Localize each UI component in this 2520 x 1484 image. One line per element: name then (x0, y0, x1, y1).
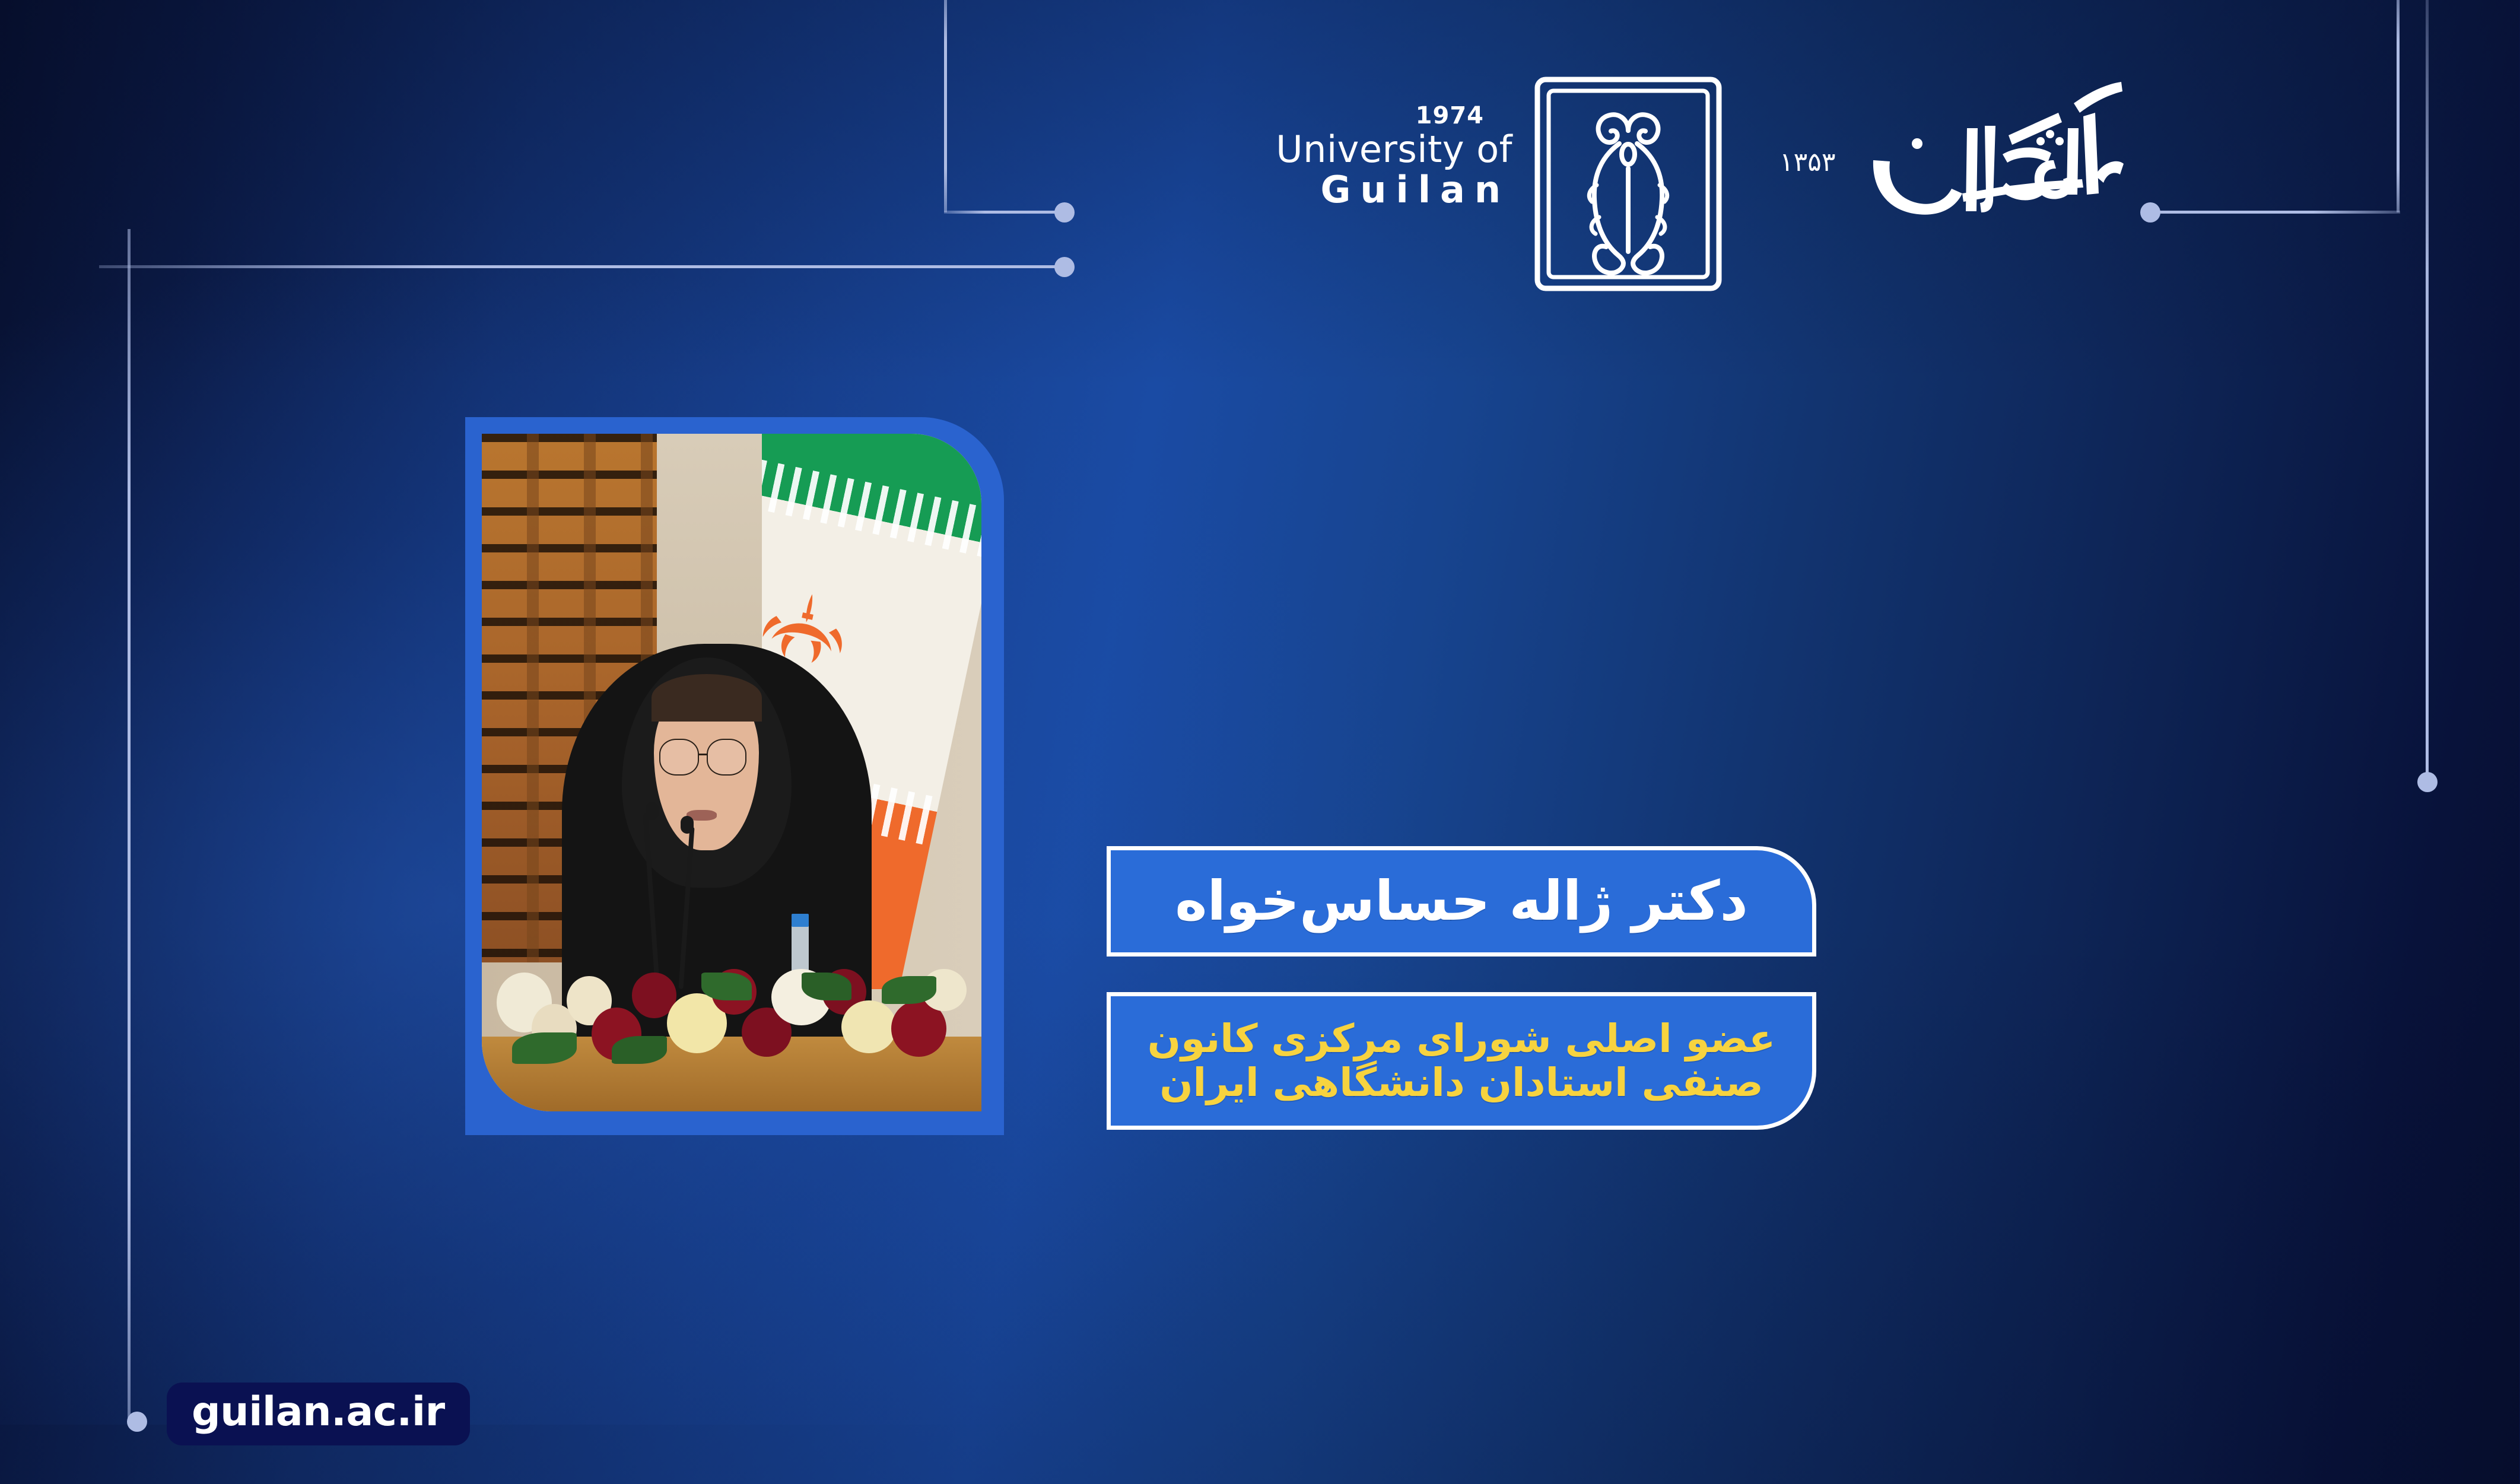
guilan-butterfly-emblem-icon (1531, 74, 1727, 297)
speaker-role-banner: عضو اصلی شورای مرکزی کانون صنفی استادان … (1107, 992, 1817, 1130)
decor-line-right-vertical (2397, 0, 2400, 212)
website-url: guilan.ac.ir (192, 1388, 446, 1435)
decor-dot-right-mid (2418, 772, 2438, 792)
decor-dot-bottom-left (128, 1412, 148, 1432)
speaker-name: دکتر ژاله حساس‌خواه (1175, 874, 1749, 929)
speaker-role-line-2: صنفی استادان دانشگاهی ایران (1160, 1061, 1764, 1105)
decor-dot-top-upper (1055, 202, 1075, 223)
speaker-name-banner: دکتر ژاله حساس‌خواه (1107, 846, 1817, 957)
decor-dot-top-lower (1055, 257, 1075, 277)
decor-line-right-horizontal (2153, 211, 2401, 214)
photo-eyeglass-left (660, 739, 700, 776)
logo-name-persian-calligraphy (1863, 71, 2124, 269)
flag-kufic-band-top (762, 449, 982, 558)
photo-eyeglass-bridge (700, 754, 708, 755)
photo-eyeglass-right (707, 739, 747, 776)
microphone-head-left (646, 802, 659, 820)
speaker-role-line-1: عضو اصلی شورای مرکزی کانون (1148, 1017, 1776, 1061)
decor-line-left-vertical (128, 229, 131, 1422)
decor-line-second-horizontal (100, 265, 1062, 268)
logo-university-word: University of (1222, 131, 1513, 168)
decor-line-top-horizontal (945, 211, 1061, 214)
university-logo: 1974 University of Guilan ۱۳۵۳ (1222, 77, 2124, 291)
photo-flower-arrangement (482, 888, 982, 1064)
logo-year-english: 1974 (1222, 102, 1513, 129)
logo-year-persian: ۱۳۵۳ (1780, 147, 1836, 177)
logo-english-block: 1974 University of Guilan (1222, 102, 1513, 212)
website-url-badge[interactable]: guilan.ac.ir (167, 1383, 471, 1445)
microphone-head-right (681, 816, 694, 834)
photo-speaker-hair (652, 674, 762, 722)
speaker-photo-frame (466, 417, 1005, 1135)
decor-dot-right-upper (2141, 202, 2161, 223)
logo-name-english: Guilan (1222, 168, 1513, 212)
decor-line-far-right-vertical (2426, 0, 2429, 778)
speaker-photo (482, 434, 982, 1111)
decor-line-top-vertical (945, 0, 948, 212)
